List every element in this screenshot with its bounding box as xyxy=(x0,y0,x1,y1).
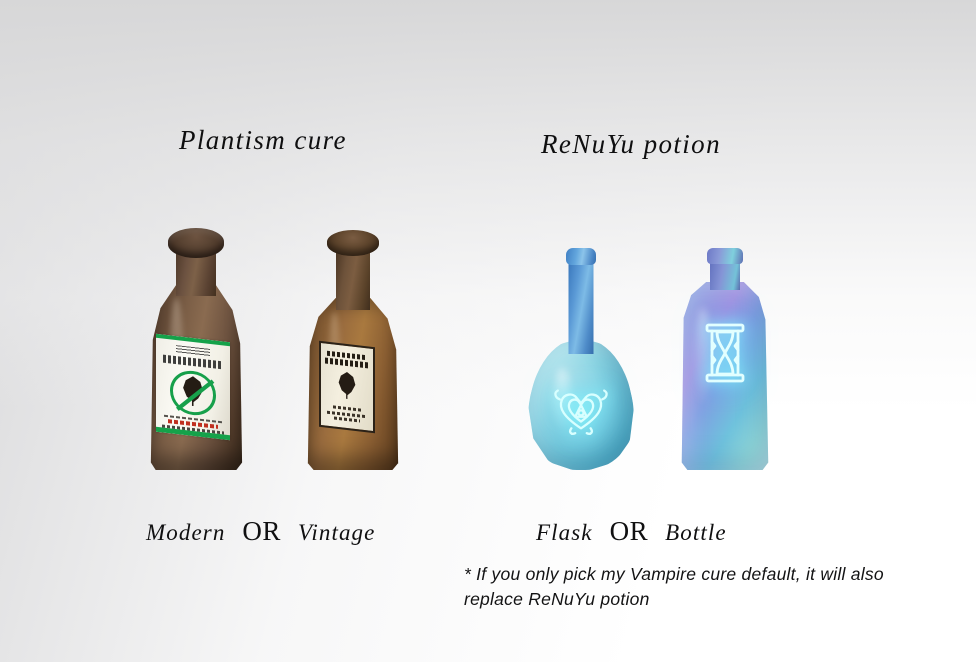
vintage-cure-label xyxy=(319,341,375,433)
label-body-text xyxy=(333,405,361,411)
poster-canvas: Plantism cure ReNuYu potion xyxy=(0,0,976,662)
flask-neck xyxy=(569,262,594,354)
option-modern-label[interactable]: Modern xyxy=(146,520,225,546)
leaf-icon xyxy=(336,371,358,401)
bottle-lip xyxy=(707,248,743,264)
label-wave-lines xyxy=(176,345,210,357)
option-vintage-label[interactable]: Vintage xyxy=(298,520,376,546)
option-bottle-label[interactable]: Bottle xyxy=(665,520,727,546)
potion-options-row: Flask OR Bottle xyxy=(536,516,727,547)
renuyu-bottle[interactable] xyxy=(676,248,774,470)
modern-cure-label xyxy=(156,334,230,440)
label-title-text xyxy=(163,355,223,369)
vintage-cure-bottle[interactable] xyxy=(305,228,401,470)
option-flask-label[interactable]: Flask xyxy=(536,520,593,546)
conjunction-or: OR xyxy=(242,516,281,547)
cure-options-row: Modern OR Vintage xyxy=(146,516,375,547)
label-footer-text xyxy=(334,417,360,423)
bottle-lip xyxy=(168,228,224,258)
flask-lip xyxy=(566,248,596,265)
modern-cure-bottle[interactable] xyxy=(148,228,244,470)
no-plant-symbol xyxy=(170,368,216,417)
page-title-renuyu-potion: ReNuYu potion xyxy=(541,129,721,160)
page-title-plantism-cure: Plantism cure xyxy=(179,125,347,156)
bottle-neck xyxy=(336,248,370,310)
footnote-text: * If you only pick my Vampire cure defau… xyxy=(464,562,934,612)
conjunction-or: OR xyxy=(610,516,649,547)
glowing-hourglass-emblem xyxy=(703,322,747,384)
bottle-neck xyxy=(710,260,740,290)
glowing-heart-emblem xyxy=(552,380,610,438)
bottle-lip xyxy=(327,230,379,256)
renuyu-flask[interactable] xyxy=(528,248,634,470)
